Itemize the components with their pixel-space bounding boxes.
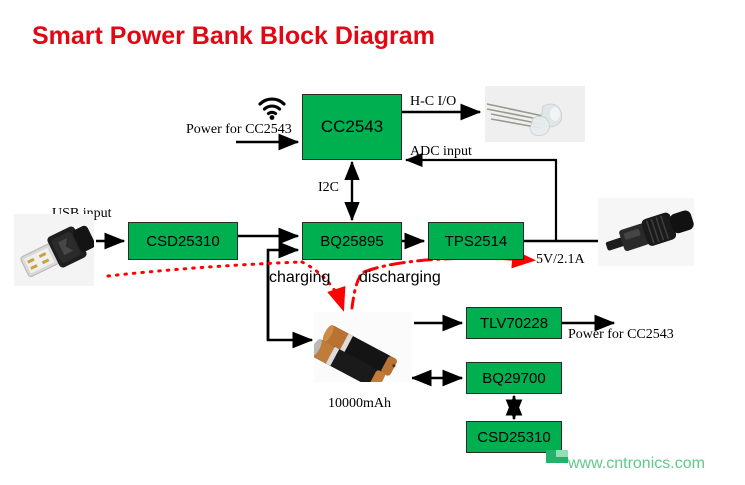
label-hc-io: H-C I/O <box>410 94 456 110</box>
usb-a-plug-photo <box>14 214 94 286</box>
block-diagram-canvas: Smart Power Bank Block Diagram <box>0 0 745 485</box>
micro-usb-plug-photo <box>598 198 694 266</box>
label-power-for-cc2543-left: Power for CC2543 <box>186 122 292 138</box>
label-adc-input: ADC input <box>410 144 472 160</box>
block-tlv70228[interactable]: TLV70228 <box>466 307 562 339</box>
watermark-logo-accent-icon <box>556 450 568 457</box>
label-i2c: I2C <box>318 180 339 196</box>
conn-battery-return-to-bq25895 <box>268 250 298 340</box>
block-tps2514[interactable]: TPS2514 <box>428 222 524 260</box>
label-charging: charging <box>269 269 330 287</box>
label-power-for-cc2543-right: Power for CC2543 <box>568 327 674 343</box>
label-output-rating: 5V/2.1A <box>536 252 585 268</box>
watermark-text: www.cntronics.com <box>568 455 705 473</box>
label-battery-capacity: 10000mAh <box>328 396 391 412</box>
block-bq25895[interactable]: BQ25895 <box>302 222 402 260</box>
label-discharging: discharging <box>359 269 441 287</box>
battery-cells-photo <box>314 312 412 382</box>
block-csd25310-bottom[interactable]: CSD25310 <box>466 421 562 453</box>
wifi-icon <box>258 97 286 121</box>
clear-led-photo <box>485 86 585 142</box>
block-bq29700[interactable]: BQ29700 <box>466 362 562 394</box>
block-cc2543[interactable]: CC2543 <box>302 94 402 160</box>
block-csd25310-top[interactable]: CSD25310 <box>128 222 238 260</box>
